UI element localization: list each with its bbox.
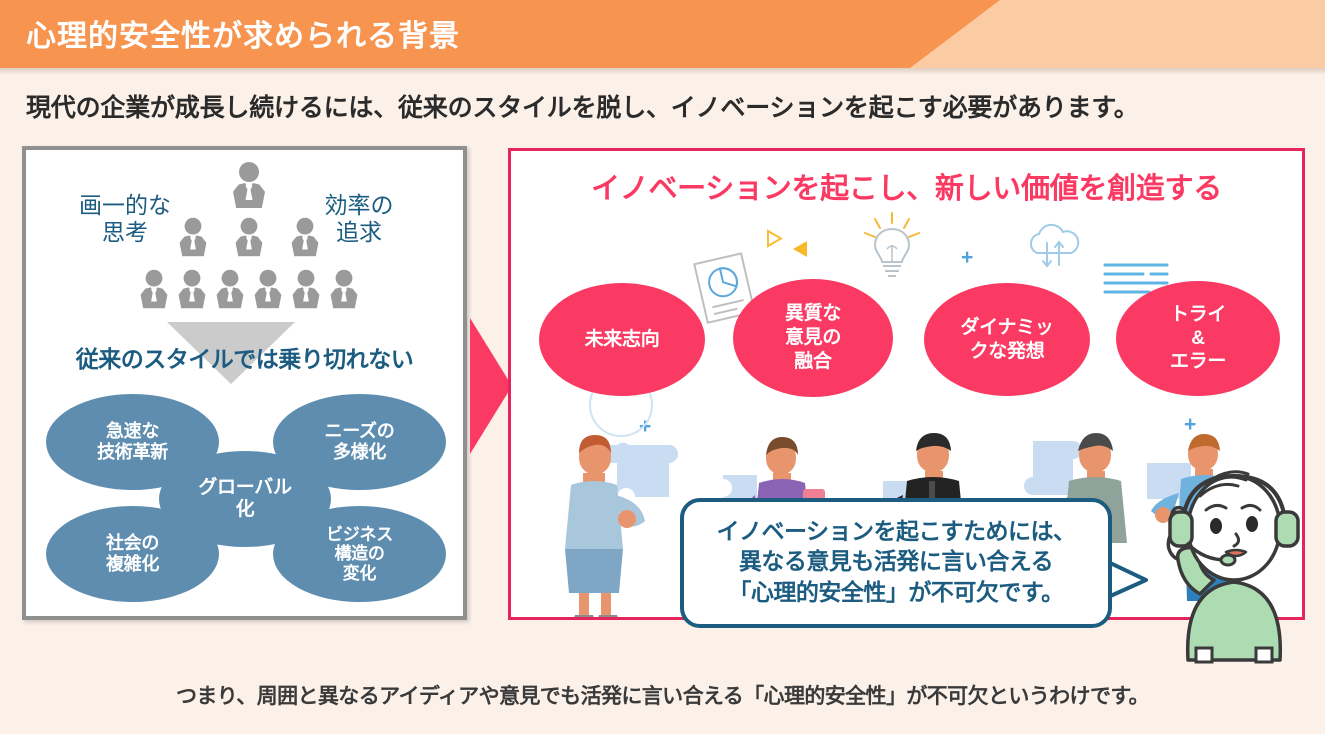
ellipse-line-3: 変化 [326, 564, 393, 584]
triangle-filled-icon [791, 239, 809, 264]
person-icon [330, 270, 359, 309]
bottom-caption: つまり、周囲と異なるアイディアや意見でも活発に言い合える「心理的安全性」が不可欠… [0, 680, 1325, 710]
ellipse-line-1: 急速な [97, 421, 168, 442]
lightbulb-icon [859, 211, 925, 286]
slide-header: 心理的安全性が求められる背景 [0, 0, 1325, 68]
pyramid-row [130, 266, 368, 313]
operator-character-illustration [1148, 452, 1320, 664]
bubble-line-1: イノベーションを起こすためには、 [684, 516, 1108, 546]
innovation-ellipse-trial-and-error: トライ & エラー [1116, 281, 1280, 396]
triangle-outline-icon [766, 229, 783, 253]
ellipse-line-2: 複雑化 [106, 554, 159, 575]
person-icon [292, 270, 321, 309]
ellipse-line-1: グローバル [198, 477, 291, 499]
ellipse-line-2: 多様化 [325, 442, 395, 463]
pyramid-row [130, 214, 368, 261]
person-icon [179, 218, 208, 257]
ellipse-line-1: ダイナミッ [960, 316, 1053, 340]
hierarchy-pyramid-illustration [130, 162, 368, 322]
innovation-ellipse-future-oriented: 未来志向 [539, 283, 705, 396]
header-shadow [0, 68, 1325, 75]
innovation-ellipse-dynamic-ideas: ダイナミッ クな発想 [924, 283, 1090, 396]
challenge-ellipse-cluster: 急速な 技術革新 ニーズの 多様化 グローバル 化 社会の 複雑化 [26, 388, 463, 616]
ellipse-line-1: ニーズの [325, 421, 395, 442]
ellipse-line-2: 化 [198, 499, 291, 521]
ellipse-line-2: 構造の [326, 544, 393, 564]
person-icon [140, 270, 169, 309]
ellipse-line-1: トライ [1170, 303, 1226, 327]
bubble-line-3: 「心理的安全性」が不可欠です。 [684, 577, 1108, 607]
subtitle-text: 現代の企業が成長し続けるには、従来のスタイルを脱し、イノベーションを起こす必要が… [26, 88, 1139, 124]
slide-root: 心理的安全性が求められる背景 現代の企業が成長し続けるには、従来のスタイルを脱し… [0, 0, 1325, 734]
challenge-ellipse-globalization: グローバル 化 [159, 451, 331, 547]
person-icon [235, 218, 264, 257]
ellipse-line-1: ビジネス [326, 525, 393, 545]
cloud-icon [1023, 221, 1083, 278]
speech-bubble-text: イノベーションを起こすためには、 異なる意見も活発に言い合える 「心理的安全性」… [684, 516, 1108, 607]
plus-icon: + [961, 246, 973, 270]
transition-arrow-icon [470, 318, 512, 454]
ellipse-line-1: 未来志向 [585, 328, 660, 352]
pyramid-row [130, 162, 368, 209]
ellipse-line-2: & [1170, 327, 1226, 351]
page-title: 心理的安全性が求められる背景 [26, 11, 460, 55]
ellipse-line-2: クな発想 [960, 340, 1053, 364]
right-panel-title: イノベーションを起こし、新しい価値を創造する [511, 165, 1302, 207]
ellipse-line-3: 融合 [785, 350, 841, 374]
person-icon [178, 270, 207, 309]
ellipse-line-2: 技術革新 [97, 442, 168, 463]
person-icon [254, 270, 283, 309]
innovation-ellipse-fusion-of-diverse-opinions: 異質な 意見の 融合 [733, 279, 893, 397]
ellipse-line-2: 意見の [785, 326, 841, 350]
person-icon [216, 270, 245, 309]
speech-bubble: イノベーションを起こすためには、 異なる意見も活発に言い合える 「心理的安全性」… [680, 498, 1112, 628]
person-icon [232, 162, 266, 209]
person-icon [291, 218, 320, 257]
left-panel-warning-text: 従来のスタイルでは乗り切れない [26, 340, 463, 374]
ellipse-line-3: エラー [1170, 350, 1226, 374]
bubble-line-2: 異なる意見も活発に言い合える [684, 546, 1108, 576]
ellipse-line-1: 異質な [785, 302, 841, 326]
left-panel-traditional-style: 画一的な 思考 効率の 追求 [22, 146, 467, 620]
ellipse-line-1: 社会の [106, 533, 159, 554]
